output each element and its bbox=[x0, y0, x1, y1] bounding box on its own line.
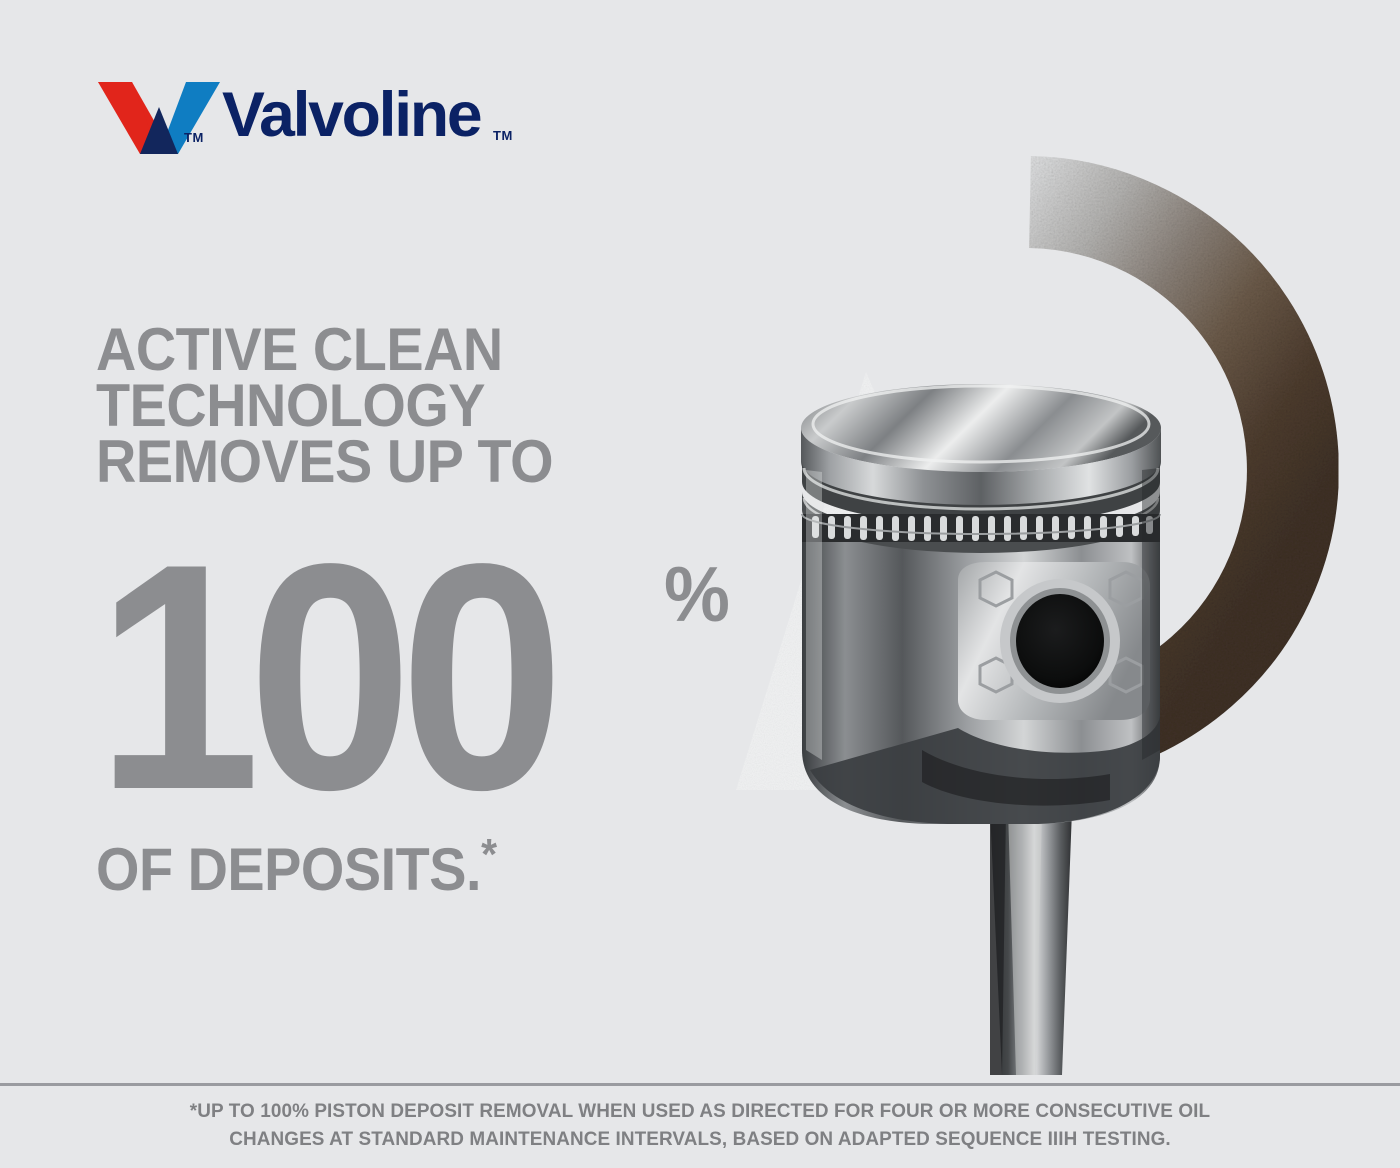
headline-line-3: REMOVES UP TO bbox=[96, 434, 654, 490]
wordmark-trademark: TM bbox=[493, 128, 513, 143]
footer-divider bbox=[0, 1083, 1400, 1086]
closing-line-text: OF DEPOSITS. bbox=[96, 836, 481, 903]
oil-ring-serration bbox=[802, 514, 1160, 542]
logo-mark-trademark: TM bbox=[184, 130, 204, 145]
headline-line-1: ACTIVE CLEAN bbox=[96, 322, 654, 378]
big-number-block: 100 % bbox=[96, 540, 696, 860]
engine-piston-icon bbox=[801, 384, 1161, 1075]
valvoline-wordmark: Valvoline bbox=[222, 84, 480, 147]
closing-line: OF DEPOSITS.* bbox=[96, 840, 497, 900]
big-number-value: 100 bbox=[96, 540, 552, 817]
headline-block: ACTIVE CLEAN TECHNOLOGY REMOVES UP TO bbox=[96, 322, 696, 489]
closing-asterisk: * bbox=[481, 830, 496, 879]
piston-cleaning-illustration bbox=[690, 110, 1370, 1080]
footnote-line-1: *UP TO 100% PISTON DEPOSIT REMOVAL WHEN … bbox=[21, 1098, 1379, 1126]
footnote-disclaimer: *UP TO 100% PISTON DEPOSIT REMOVAL WHEN … bbox=[21, 1098, 1379, 1153]
valvoline-v-mark-icon bbox=[98, 80, 220, 158]
headline-line-2: TECHNOLOGY bbox=[96, 378, 654, 434]
valvoline-logo[interactable]: TM Valvoline TM bbox=[98, 78, 528, 164]
advertisement-poster: TM Valvoline TM ACTIVE CLEAN TECHNOLOGY … bbox=[0, 0, 1400, 1168]
footnote-line-2: CHANGES AT STANDARD MAINTENANCE INTERVAL… bbox=[21, 1126, 1379, 1154]
